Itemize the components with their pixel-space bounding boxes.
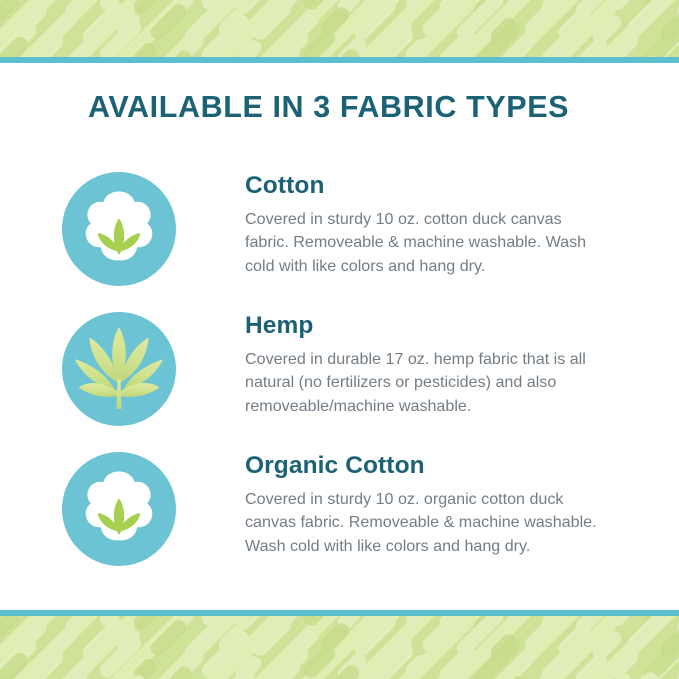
fabric-item-cotton: Cotton Covered in sturdy 10 oz. cotton d… — [0, 167, 679, 287]
cotton-boll-icon — [61, 171, 177, 287]
fabric-description: Covered in sturdy 10 oz. cotton duck can… — [245, 208, 607, 278]
fabric-item-organic-cotton: Organic Cotton Covered in sturdy 10 oz. … — [0, 447, 679, 567]
fabric-name: Cotton — [245, 173, 621, 199]
content-area: AVAILABLE IN 3 FABRIC TYPES — [0, 63, 679, 610]
fabric-description: Covered in durable 17 oz. hemp fabric th… — [245, 348, 607, 418]
hemp-leaf-icon — [61, 311, 177, 427]
top-decorative-band — [0, 0, 679, 58]
fabric-type-list: Cotton Covered in sturdy 10 oz. cotton d… — [0, 167, 679, 567]
bottom-band-dashes — [0, 616, 679, 679]
cotton-boll-icon — [61, 451, 177, 567]
fabric-description: Covered in sturdy 10 oz. organic cotton … — [245, 488, 607, 558]
bottom-decorative-band — [0, 616, 679, 679]
fabric-text-hemp: Hemp Covered in durable 17 oz. hemp fabr… — [177, 307, 679, 418]
top-band-dashes — [0, 0, 679, 58]
fabric-text-organic-cotton: Organic Cotton Covered in sturdy 10 oz. … — [177, 447, 679, 558]
page-title: AVAILABLE IN 3 FABRIC TYPES — [88, 90, 569, 125]
fabric-item-hemp: Hemp Covered in durable 17 oz. hemp fabr… — [0, 307, 679, 427]
fabric-name: Organic Cotton — [245, 453, 621, 479]
infographic-page: AVAILABLE IN 3 FABRIC TYPES — [0, 0, 679, 679]
fabric-name: Hemp — [245, 313, 621, 339]
fabric-text-cotton: Cotton Covered in sturdy 10 oz. cotton d… — [177, 167, 679, 278]
